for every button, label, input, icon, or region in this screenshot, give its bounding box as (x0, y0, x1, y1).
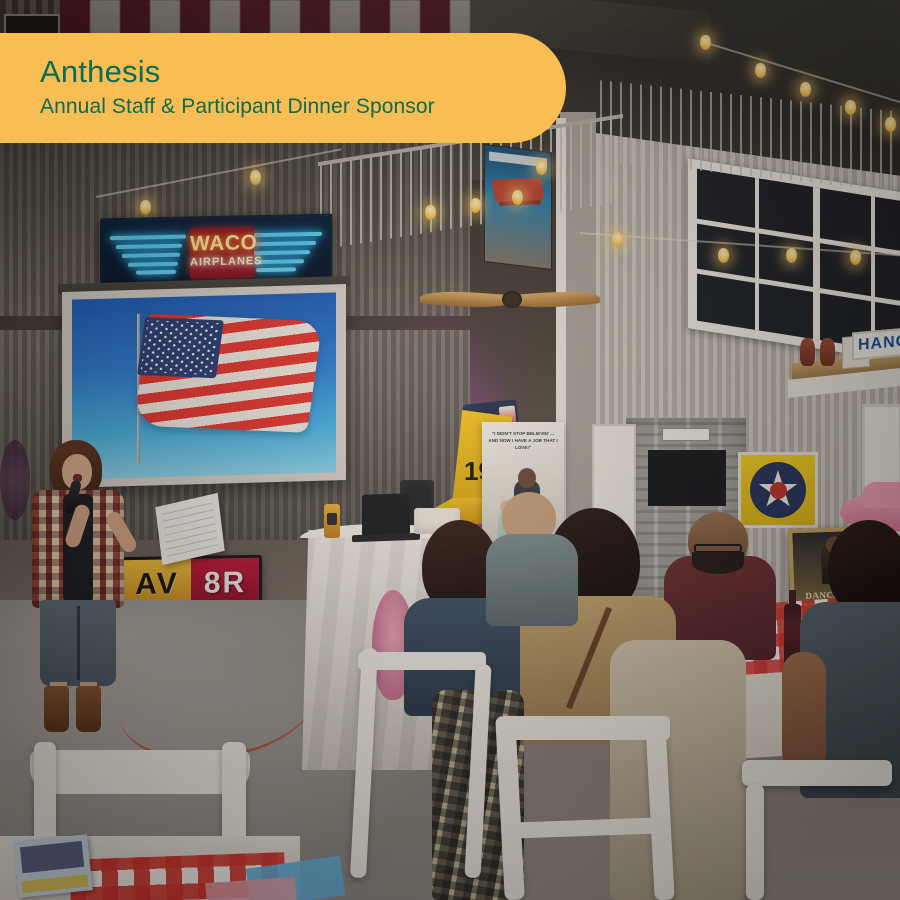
folding-chair (356, 648, 496, 898)
guest-seated-right (800, 492, 900, 792)
folding-chair (742, 760, 892, 900)
event-program-booklet (13, 834, 92, 897)
string-light-bulb (800, 82, 811, 97)
waco-sub-text: AIRPLANES (190, 255, 254, 268)
sponsor-banner: Anthesis Annual Staff & Participant Dinn… (0, 33, 566, 143)
copper-jugs-decor (800, 330, 840, 366)
string-light-bulb (140, 200, 151, 215)
folding-chair (500, 716, 672, 900)
string-light-bulb (885, 117, 896, 132)
cowboy-boot (44, 686, 69, 732)
sponsor-name: Anthesis (40, 56, 566, 89)
string-light-bulb (536, 160, 547, 175)
string-light-bulb (512, 190, 523, 205)
waco-brand-text: WACO (190, 231, 254, 256)
string-light-bulb (470, 198, 481, 213)
presentation-laptop (362, 493, 410, 537)
testimonial-text: "I DIDN'T STOP BELIEVIN' ... AND NOW I H… (487, 430, 559, 451)
bare-arm (782, 652, 826, 772)
string-light-bulb (755, 63, 766, 78)
speech-papers (155, 493, 224, 565)
insulated-tumbler (324, 504, 340, 538)
denim-skirt (40, 600, 116, 686)
string-light-bulb (850, 250, 861, 265)
guest-seated (486, 492, 576, 612)
string-light-bulb (845, 100, 856, 115)
sponsor-level: Annual Staff & Participant Dinner Sponso… (40, 94, 566, 120)
string-light-bulb (718, 248, 729, 263)
pink-cowboy-hat-crown (862, 482, 900, 508)
sponsor-card: WACO AIRPLANES AV 8R (0, 0, 900, 900)
string-light-bulb (250, 170, 261, 185)
speaker-person (18, 440, 138, 730)
flag-canton (137, 317, 224, 378)
hangar-shelf-sign: HANGAR (852, 328, 900, 361)
stone-column-plaque (662, 428, 710, 441)
stone-column-window (648, 450, 726, 506)
guest-seated (664, 512, 774, 652)
roundel-center-dot (770, 482, 787, 499)
string-light-bulb (786, 248, 797, 263)
cowboy-boot (76, 686, 101, 732)
string-light-bulb (700, 35, 711, 50)
beard (692, 552, 744, 574)
string-light-bulb (425, 205, 436, 220)
string-light-bulb (612, 232, 623, 247)
guest-torso (486, 534, 578, 626)
